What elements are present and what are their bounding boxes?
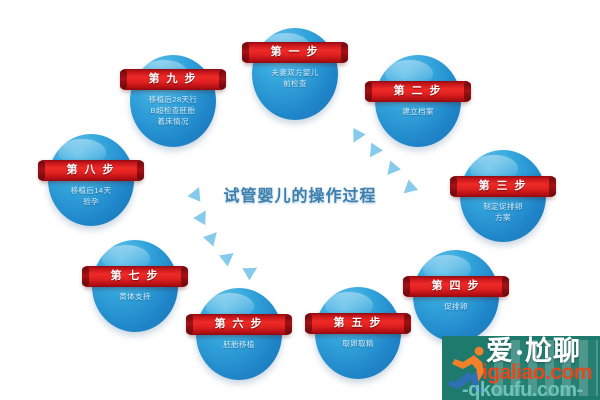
step-banner: 第 六 步	[187, 314, 291, 335]
step-banner-label: 第 一 步	[270, 47, 319, 58]
step-node-5[interactable]: 第 五 步取卵取精	[315, 287, 401, 379]
step-banner-label: 第 四 步	[431, 281, 480, 292]
step-node-7[interactable]: 第 七 步黄体支持	[92, 240, 178, 332]
step-banner: 第 八 步	[39, 160, 143, 181]
infographic-canvas: 第 一 步夫妻双方婴儿 前检查第 二 步建立档案第 三 步制定促排卵 方案第 四…	[0, 0, 600, 400]
step-node-1[interactable]: 第 一 步夫妻双方婴儿 前检查	[252, 28, 338, 120]
step-banner: 第 二 步	[366, 81, 470, 102]
step-banner-label: 第 五 步	[333, 318, 382, 329]
step-banner: 第 一 步	[243, 42, 347, 63]
watermark-dot-icon	[517, 350, 522, 355]
step-node-4[interactable]: 第 四 步促排卵	[413, 250, 499, 342]
step-node-3[interactable]: 第 三 步制定促排卵 方案	[460, 150, 546, 242]
step-description: 取卵取精	[324, 339, 392, 350]
flow-arrow-icon	[347, 128, 365, 146]
step-banner-label: 第 三 步	[478, 181, 527, 192]
step-banner-label: 第 八 步	[66, 165, 115, 176]
step-banner: 第 三 步	[451, 176, 555, 197]
step-description: 移植后14天 验孕	[57, 186, 125, 208]
step-banner: 第 九 步	[121, 69, 225, 90]
step-node-2[interactable]: 第 二 步建立档案	[375, 55, 461, 147]
flow-arrow-icon	[399, 179, 418, 198]
step-description: 黄体支持	[101, 292, 169, 303]
center-title: 试管婴儿的操作过程	[205, 182, 395, 206]
step-description: 制定促排卵 方案	[469, 202, 537, 224]
step-banner: 第 七 步	[83, 266, 187, 287]
step-description: 胚胎移植	[205, 340, 273, 351]
step-node-8[interactable]: 第 八 步移植后14天 验孕	[48, 134, 134, 226]
step-description: 建立档案	[384, 107, 452, 118]
step-description: 促排卵	[422, 302, 490, 313]
step-banner-label: 第 九 步	[148, 74, 197, 85]
watermark-url-secondary: -qkoufu.com-	[462, 380, 583, 400]
flow-arrow-icon	[219, 247, 238, 266]
step-node-9[interactable]: 第 九 步移植后28天行 B超检查胚胎 着床情况	[130, 55, 216, 147]
step-banner: 第 五 步	[306, 313, 410, 334]
step-banner-label: 第 六 步	[214, 319, 263, 330]
step-description: 夫妻双方婴儿 前检查	[261, 68, 329, 90]
flow-arrow-icon	[203, 227, 222, 246]
step-banner-label: 第 七 步	[110, 271, 159, 282]
step-banner-label: 第 二 步	[393, 86, 442, 97]
flow-arrow-icon	[382, 161, 401, 180]
step-node-6[interactable]: 第 六 步胚胎移植	[196, 288, 282, 380]
step-banner: 第 四 步	[404, 276, 508, 297]
flow-arrow-icon	[193, 207, 212, 225]
step-description: 移植后28天行 B超检查胚胎 着床情况	[139, 95, 207, 128]
flow-arrow-icon	[242, 262, 260, 281]
watermark: 爱尬聊 igaliao.com -qkoufu.com-	[442, 336, 600, 400]
flow-arrow-icon	[188, 184, 206, 201]
